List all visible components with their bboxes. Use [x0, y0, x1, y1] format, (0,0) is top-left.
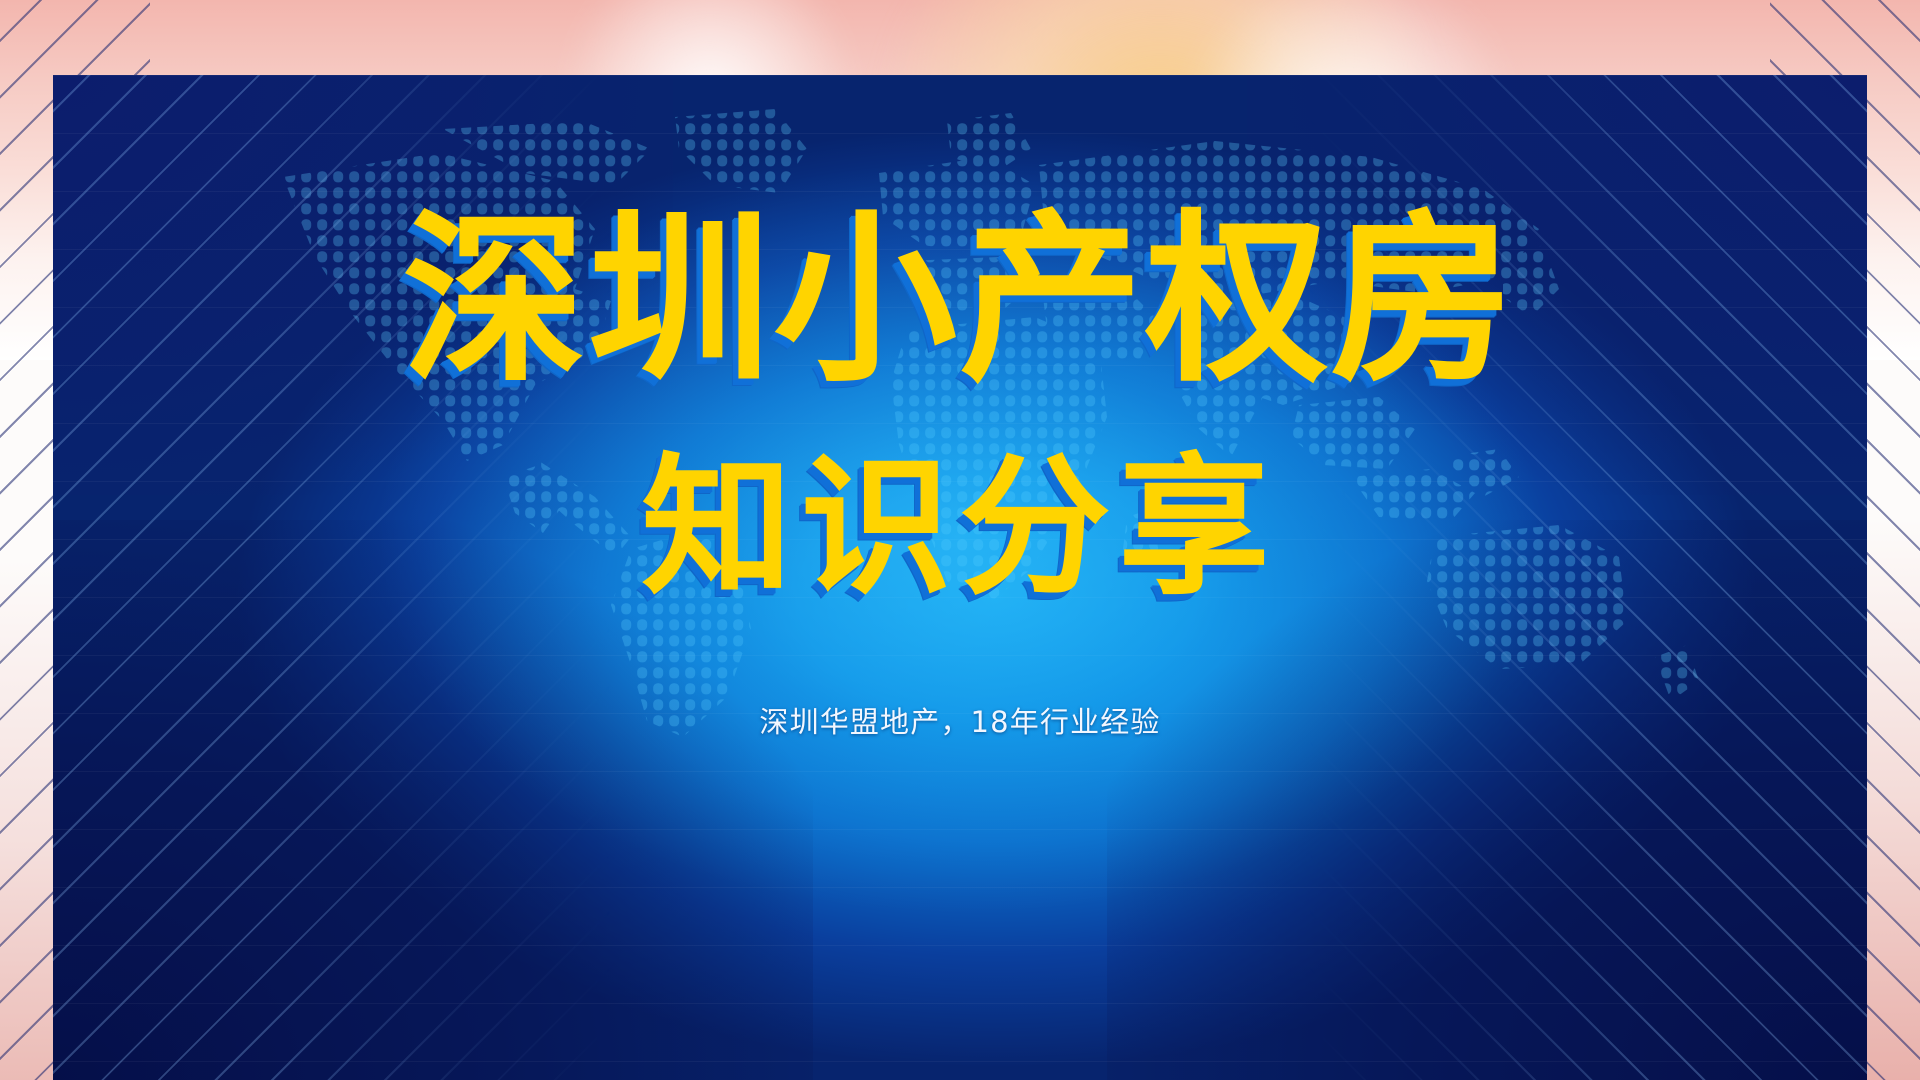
dotted-world-map-icon	[203, 105, 1723, 745]
title-slide: 深圳小产权房 知识分享 深圳华盟地产，18年行业经验	[0, 0, 1920, 1080]
blue-panel: 深圳小产权房 知识分享 深圳华盟地产，18年行业经验	[53, 75, 1867, 1080]
